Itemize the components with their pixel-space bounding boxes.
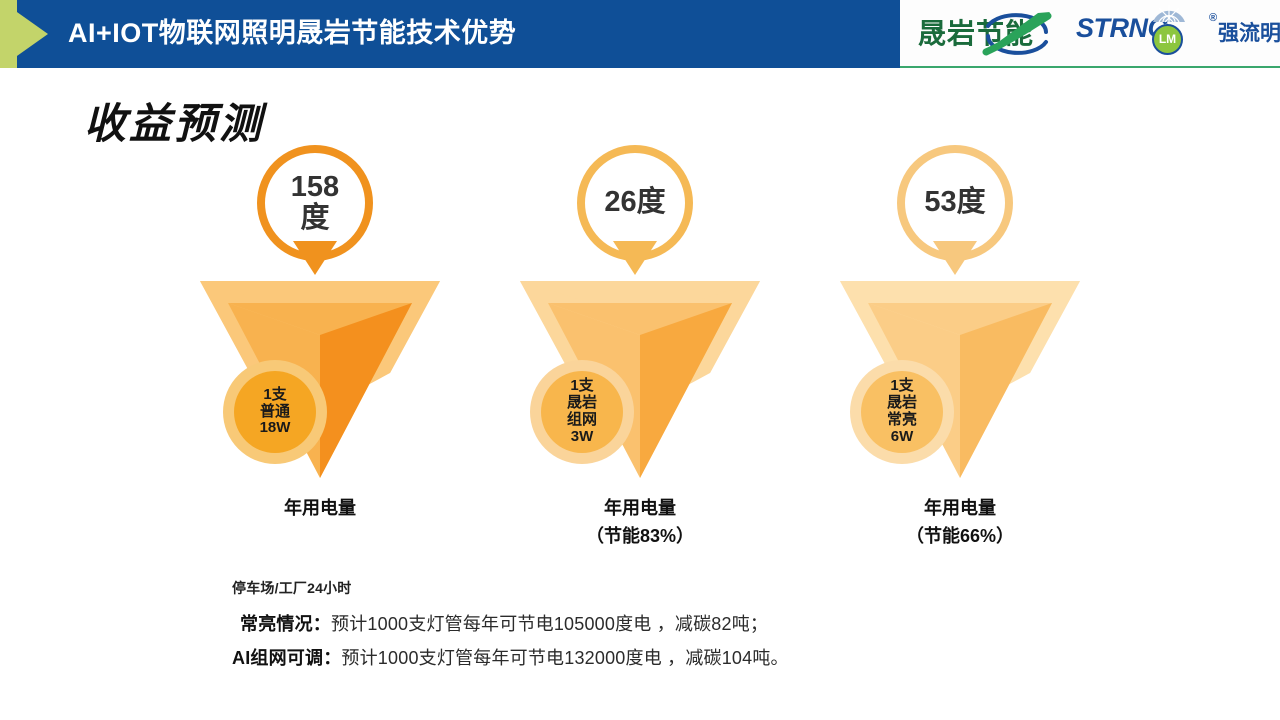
note-text-0: 预计1000支灯管每年可节电105000度电 ，减碳82吨； xyxy=(331,614,768,634)
caption-line-0-0: 年用电量 xyxy=(180,495,460,523)
bulb-line-2-2: 常亮 xyxy=(887,412,917,429)
bulb-line-1-1: 晟岩 xyxy=(567,395,597,412)
logo-chinese-name: 晟岩节能 xyxy=(918,12,1034,52)
funnel-cone-0 xyxy=(190,263,450,493)
note-label-1: AI组网可调： xyxy=(232,648,341,668)
pin-value-top-0: 158 xyxy=(291,172,339,203)
note-line-0: 常亮情况：预计1000支灯管每年可节电105000度电 ，减碳82吨； xyxy=(232,610,1112,636)
header-bar: AI+IOT物联网照明晟岩节能技术优势 晟岩节能 STRNG LM ® 强流明照… xyxy=(0,0,1280,68)
bulb-circle-0: 1支 普通 18W xyxy=(223,360,327,464)
note-line-1: AI组网可调：预计1000支灯管每年可节电132000度电 ，减碳104吨。 xyxy=(232,644,1112,670)
funnel-caption-0: 年用电量 xyxy=(180,495,460,523)
logo-lm-badge: LM xyxy=(1152,24,1183,55)
note-label-0: 常亮情况： xyxy=(240,614,331,634)
bulb-line-2-0: 1支 xyxy=(890,378,913,395)
page-title: AI+IOT物联网照明晟岩节能技术优势 xyxy=(68,0,516,68)
bulb-line-1-2: 组网 xyxy=(567,412,597,429)
bulb-inner-1: 1支 晟岩 组网 3W xyxy=(541,371,623,453)
bulb-line-2-1: 晟岩 xyxy=(887,395,917,412)
caption-line-1-0: 年用电量 xyxy=(500,495,780,523)
bulb-circle-1: 1支 晟岩 组网 3W xyxy=(530,360,634,464)
pin-label-1: 26度 xyxy=(577,145,693,261)
caption-line-1-1: （节能83%） xyxy=(500,523,780,551)
logo-chinese-tagline: 强流明照明 xyxy=(1218,17,1280,47)
caption-line-2-0: 年用电量 xyxy=(820,495,1100,523)
caption-line-2-1: （节能66%） xyxy=(820,523,1100,551)
funnel-group-1: 26度 1支 晟岩 组网 3W 年用电量 （节能83%） xyxy=(500,145,780,565)
pin-label-0: 158 度 xyxy=(257,145,373,261)
bulb-inner-2: 1支 晟岩 常亮 6W xyxy=(861,371,943,453)
funnel-caption-2: 年用电量 （节能66%） xyxy=(820,495,1100,551)
pin-value-top-1: 26度 xyxy=(604,187,665,218)
bulb-line-0-2: 18W xyxy=(260,420,291,437)
logo-fan-icon xyxy=(1150,3,1188,23)
pin-value-top-2: 53度 xyxy=(924,187,985,218)
funnel-group-0: 158 度 1支 普通 18W 年用电量 xyxy=(180,145,460,565)
funnel-caption-1: 年用电量 （节能83%） xyxy=(500,495,780,551)
note-scenario: 停车场/工厂24小时 xyxy=(232,578,1112,598)
funnel-group-2: 53度 1支 晟岩 常亮 6W 年用电量 （节能66%） xyxy=(820,145,1100,565)
bulb-line-0-0: 1支 xyxy=(263,387,286,404)
bulb-circle-2: 1支 晟岩 常亮 6W xyxy=(850,360,954,464)
bulb-line-1-3: 3W xyxy=(571,429,594,446)
bulb-line-1-0: 1支 xyxy=(570,378,593,395)
pin-label-2: 53度 xyxy=(897,145,1013,261)
bulb-line-2-3: 6W xyxy=(891,429,914,446)
slide-heading: 收益预测 xyxy=(84,90,264,151)
note-text-1: 预计1000支灯管每年可节电132000度电 ，减碳104吨。 xyxy=(341,648,788,668)
notes-block: 停车场/工厂24小时 常亮情况：预计1000支灯管每年可节电105000度电 ，… xyxy=(232,578,1112,678)
pin-value-bottom-0: 度 xyxy=(300,203,329,234)
logo-registered-icon: ® xyxy=(1209,12,1217,24)
bulb-inner-0: 1支 普通 18W xyxy=(234,371,316,453)
header-arrow-icon xyxy=(0,0,48,68)
company-logo: 晟岩节能 STRNG LM ® 强流明照明 xyxy=(900,0,1280,68)
bulb-line-0-1: 普通 xyxy=(260,404,290,421)
